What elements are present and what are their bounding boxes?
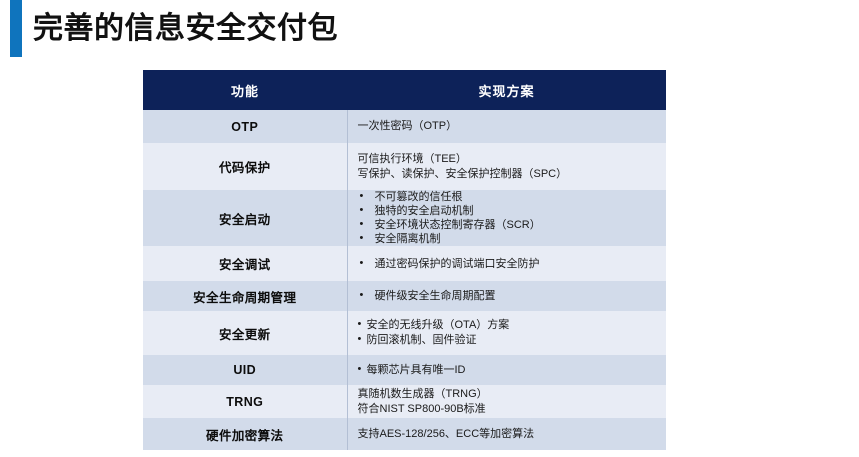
solution-cell: 支持AES-128/256、ECC等加密算法 — [347, 418, 666, 450]
table-header-row: 功能 实现方案 — [143, 70, 666, 110]
solution-bullet-list: 安全的无线升级（OTA）方案防回滚机制、固件验证 — [358, 318, 661, 348]
accent-bar — [10, 0, 22, 57]
feature-name-cell: OTP — [143, 110, 347, 143]
solution-bullet-item: 通过密码保护的调试端口安全防护 — [358, 257, 661, 271]
solution-line: 符合NIST SP800-90B标准 — [358, 402, 661, 417]
solution-bullet-item: 安全的无线升级（OTA）方案 — [358, 318, 661, 333]
table-row: OTP一次性密码（OTP） — [143, 110, 666, 143]
solution-bullet-item: 安全隔离机制 — [358, 232, 661, 246]
feature-name-cell: 代码保护 — [143, 143, 347, 190]
feature-name-cell: 安全更新 — [143, 311, 347, 355]
feature-name-cell: 硬件加密算法 — [143, 418, 347, 450]
solution-bullet-list: 硬件级安全生命周期配置 — [358, 289, 661, 303]
feature-name-cell: 安全启动 — [143, 190, 347, 246]
solution-cell: 一次性密码（OTP） — [347, 110, 666, 143]
solution-cell: 通过密码保护的调试端口安全防护 — [347, 246, 666, 281]
table-row: 安全生命周期管理硬件级安全生命周期配置 — [143, 281, 666, 311]
solution-text-block: 真随机数生成器（TRNG）符合NIST SP800-90B标准 — [358, 387, 661, 417]
solution-text-block: 一次性密码（OTP） — [358, 119, 661, 134]
solution-cell: 安全的无线升级（OTA）方案防回滚机制、固件验证 — [347, 311, 666, 355]
solution-bullet-item: 不可篡改的信任根 — [358, 190, 661, 204]
table-row: 代码保护可信执行环境（TEE）写保护、读保护、安全保护控制器（SPC） — [143, 143, 666, 190]
solution-bullet-item: 防回滚机制、固件验证 — [358, 333, 661, 348]
solution-cell: 可信执行环境（TEE）写保护、读保护、安全保护控制器（SPC） — [347, 143, 666, 190]
solution-text-block: 支持AES-128/256、ECC等加密算法 — [358, 427, 661, 442]
solution-bullet-list: 每颗芯片具有唯一ID — [358, 363, 661, 378]
solution-cell: 真随机数生成器（TRNG）符合NIST SP800-90B标准 — [347, 385, 666, 418]
column-header-feature: 功能 — [143, 70, 347, 110]
solution-bullet-list: 不可篡改的信任根 独特的安全启动机制安全环境状态控制寄存器（SCR）安全隔离机制 — [358, 190, 661, 246]
solution-cell: 硬件级安全生命周期配置 — [347, 281, 666, 311]
table-row: 安全更新安全的无线升级（OTA）方案防回滚机制、固件验证 — [143, 311, 666, 355]
solution-bullet-item: 硬件级安全生命周期配置 — [358, 289, 661, 303]
table-row: 安全调试 通过密码保护的调试端口安全防护 — [143, 246, 666, 281]
feature-name-cell: 安全生命周期管理 — [143, 281, 347, 311]
solution-bullet-item: 独特的安全启动机制 — [358, 204, 661, 218]
solution-bullet-item: 每颗芯片具有唯一ID — [358, 363, 661, 378]
security-feature-table: 功能 实现方案 OTP一次性密码（OTP）代码保护可信执行环境（TEE）写保护、… — [143, 70, 666, 450]
table-header: 功能 实现方案 — [143, 70, 666, 110]
solution-bullet-list: 通过密码保护的调试端口安全防护 — [358, 257, 661, 271]
solution-cell: 每颗芯片具有唯一ID — [347, 355, 666, 385]
feature-name-cell: 安全调试 — [143, 246, 347, 281]
solution-line: 真随机数生成器（TRNG） — [358, 387, 661, 402]
table-row: TRNG真随机数生成器（TRNG）符合NIST SP800-90B标准 — [143, 385, 666, 418]
solution-bullet-item: 安全环境状态控制寄存器（SCR） — [358, 218, 661, 232]
table-body: OTP一次性密码（OTP）代码保护可信执行环境（TEE）写保护、读保护、安全保护… — [143, 110, 666, 450]
slide-header: 完善的信息安全交付包 — [0, 0, 859, 60]
solution-line: 写保护、读保护、安全保护控制器（SPC） — [358, 167, 661, 182]
page-title: 完善的信息安全交付包 — [33, 7, 338, 51]
solution-text-block: 可信执行环境（TEE）写保护、读保护、安全保护控制器（SPC） — [358, 152, 661, 182]
solution-line: 可信执行环境（TEE） — [358, 152, 661, 167]
table-row: UID每颗芯片具有唯一ID — [143, 355, 666, 385]
solution-line: 一次性密码（OTP） — [358, 119, 661, 134]
solution-cell: 不可篡改的信任根 独特的安全启动机制安全环境状态控制寄存器（SCR）安全隔离机制 — [347, 190, 666, 246]
table-row: 安全启动不可篡改的信任根 独特的安全启动机制安全环境状态控制寄存器（SCR）安全… — [143, 190, 666, 246]
feature-name-cell: UID — [143, 355, 347, 385]
column-header-solution: 实现方案 — [347, 70, 666, 110]
feature-name-cell: TRNG — [143, 385, 347, 418]
solution-line: 支持AES-128/256、ECC等加密算法 — [358, 427, 661, 442]
table-row: 硬件加密算法支持AES-128/256、ECC等加密算法 — [143, 418, 666, 450]
